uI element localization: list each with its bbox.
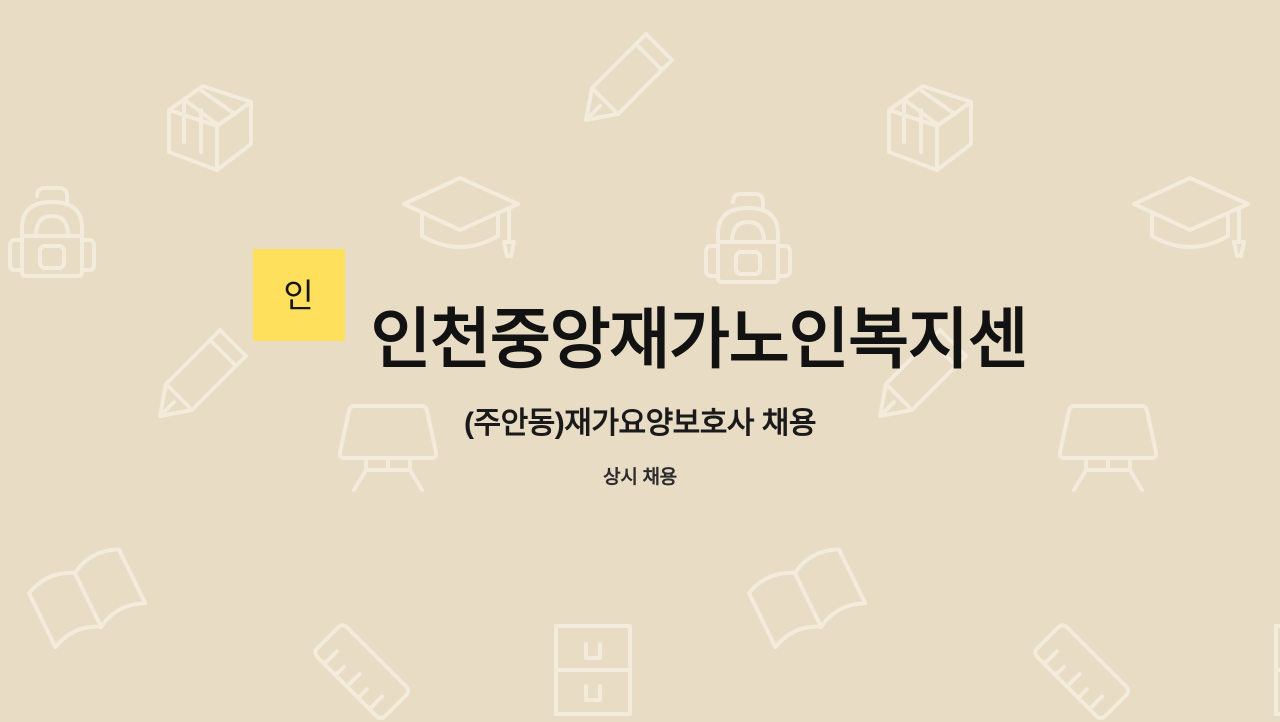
- company-name: 인천중앙재가노인복지센: [371, 293, 1028, 385]
- job-posting-card: 인 인천중앙재가노인복지센 (주안동)재가요양보호사 채용 상시 채용: [0, 0, 1280, 722]
- company-initial-label: 인: [283, 279, 313, 312]
- hiring-type-badge: 상시 채용: [0, 464, 1280, 492]
- card-content: 인 인천중앙재가노인복지센 (주안동)재가요양보호사 채용 상시 채용: [0, 0, 1280, 722]
- job-title: (주안동)재가요양보호사 채용: [0, 404, 1280, 444]
- company-title-row: 인 인천중앙재가노인복지센: [0, 249, 1280, 429]
- company-initial-badge: 인: [253, 249, 345, 341]
